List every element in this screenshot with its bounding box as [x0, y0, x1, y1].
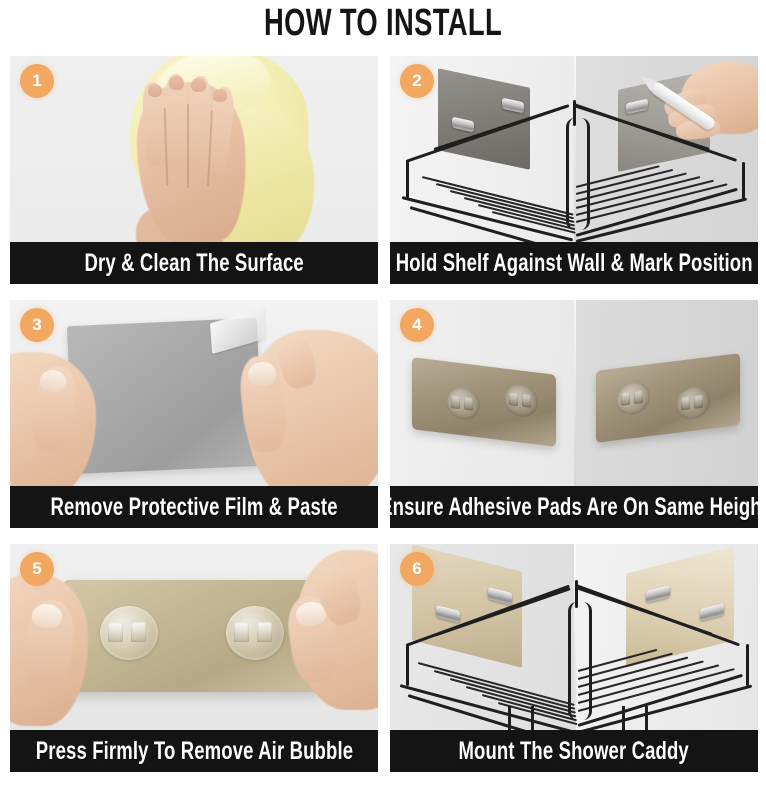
step-panel-4: 4 Ensure Adhesive Pads Are On Same Heigh… — [390, 300, 758, 528]
step-number-badge-2: 2 — [400, 64, 434, 98]
step-caption-text-3: Remove Protective Film & Paste — [50, 494, 337, 520]
step-panel-5: 5 Press Firmly To Remove Air Bubble — [10, 544, 378, 772]
step-caption-text-4: Ensure Adhesive Pads Are On Same Height — [390, 494, 758, 520]
shelf-post-right — [742, 162, 745, 200]
fingernail-4 — [213, 89, 227, 102]
step-number-badge-1: 1 — [20, 64, 54, 98]
hook-emboss-right-1 — [616, 380, 650, 416]
hook-emboss-right-2 — [676, 385, 710, 421]
step-caption-text-1: Dry & Clean The Surface — [84, 250, 303, 276]
step-caption-bar-4: Ensure Adhesive Pads Are On Same Height — [390, 486, 758, 528]
step-number-badge-5: 5 — [20, 552, 54, 586]
caddy-corner-column — [568, 602, 592, 720]
steps-grid: 1 Dry & Clean The Surface — [10, 56, 758, 772]
step-number-badge-3: 3 — [20, 308, 54, 342]
fingernail-1 — [148, 84, 162, 97]
shelf-post-left — [406, 160, 409, 198]
step-panel-2: 2 Hold Shelf Against Wall & Mark Positio… — [390, 56, 758, 284]
step-caption-bar-3: Remove Protective Film & Paste — [10, 486, 378, 528]
step-panel-6: 6 Mount The Shower Caddy — [390, 544, 758, 772]
hook-emboss-left-1 — [446, 385, 480, 421]
step-caption-bar-6: Mount The Shower Caddy — [390, 730, 758, 772]
caddy-post-right — [746, 644, 749, 686]
hand-left — [10, 352, 96, 502]
hook-cap-right — [226, 606, 284, 660]
finger-crease-2 — [187, 104, 189, 188]
hook-cap-left — [100, 606, 158, 660]
shelf-corner-column — [566, 118, 590, 230]
step-caption-text-2: Hold Shelf Against Wall & Mark Position — [396, 250, 753, 276]
step-caption-text-6: Mount The Shower Caddy — [459, 738, 689, 764]
step-number-badge-6: 6 — [400, 552, 434, 586]
hand-left — [10, 574, 88, 726]
step-caption-bar-2: Hold Shelf Against Wall & Mark Position — [390, 242, 758, 284]
step-panel-1: 1 Dry & Clean The Surface — [10, 56, 378, 284]
hand-right — [296, 550, 378, 710]
page-title: HOW TO INSTALL — [107, 2, 659, 44]
step-caption-bar-1: Dry & Clean The Surface — [10, 242, 378, 284]
step-caption-text-5: Press Firmly To Remove Air Bubble — [35, 738, 352, 764]
hand-right — [246, 330, 378, 505]
fingernail-2 — [169, 76, 184, 90]
hook-emboss-left-2 — [504, 382, 538, 418]
how-to-install-infographic: HOW TO INSTALL — [0, 0, 766, 791]
step-caption-bar-5: Press Firmly To Remove Air Bubble — [10, 730, 378, 772]
step-panel-3: 3 Remove Protective Film & Paste — [10, 300, 378, 528]
step-number-badge-4: 4 — [400, 308, 434, 342]
caddy-post-left — [406, 644, 409, 686]
fingernail-3 — [191, 78, 206, 92]
